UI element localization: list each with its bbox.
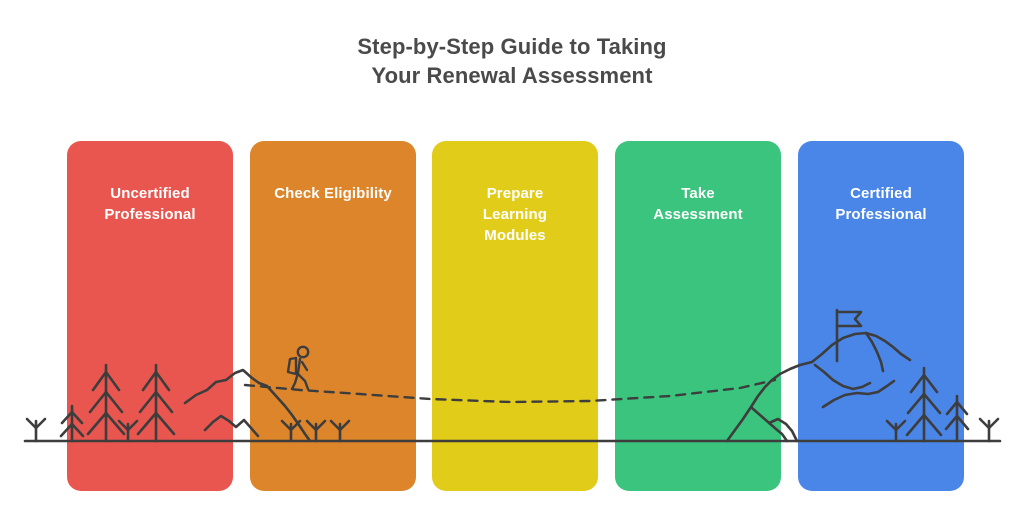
step-label-certified-professional: Certified Professional — [798, 183, 964, 225]
step-label-line-3: Modules — [484, 227, 546, 244]
step-label-prepare-learning-modules: Prepare Learning Modules — [432, 183, 598, 246]
step-label-line-1: Certified — [850, 185, 912, 202]
infographic-canvas: Step-by-Step Guide to Taking Your Renewa… — [0, 0, 1024, 524]
step-label-line-1: Check Eligibility — [274, 185, 392, 202]
step-panel-prepare-learning-modules[interactable]: Prepare Learning Modules — [432, 141, 598, 491]
step-label-take-assessment: Take Assessment — [615, 183, 781, 225]
step-panel-take-assessment[interactable]: Take Assessment — [615, 141, 781, 491]
step-label-line-1: Take — [681, 185, 714, 202]
step-label-line-2: Professional — [835, 206, 926, 223]
step-label-line-1: Uncertified — [110, 185, 189, 202]
step-label-line-1: Prepare — [487, 185, 544, 202]
step-label-check-eligibility: Check Eligibility — [250, 183, 416, 204]
step-label-line-2: Professional — [104, 206, 195, 223]
step-label-line-2: Learning — [483, 206, 547, 223]
step-panel-certified-professional[interactable]: Certified Professional — [798, 141, 964, 491]
step-label-uncertified-professional: Uncertified Professional — [67, 183, 233, 225]
step-panel-uncertified-professional[interactable]: Uncertified Professional — [67, 141, 233, 491]
step-panel-group: Uncertified Professional Check Eligibili… — [0, 0, 1024, 524]
step-panel-check-eligibility[interactable]: Check Eligibility — [250, 141, 416, 491]
step-label-line-2: Assessment — [653, 206, 742, 223]
